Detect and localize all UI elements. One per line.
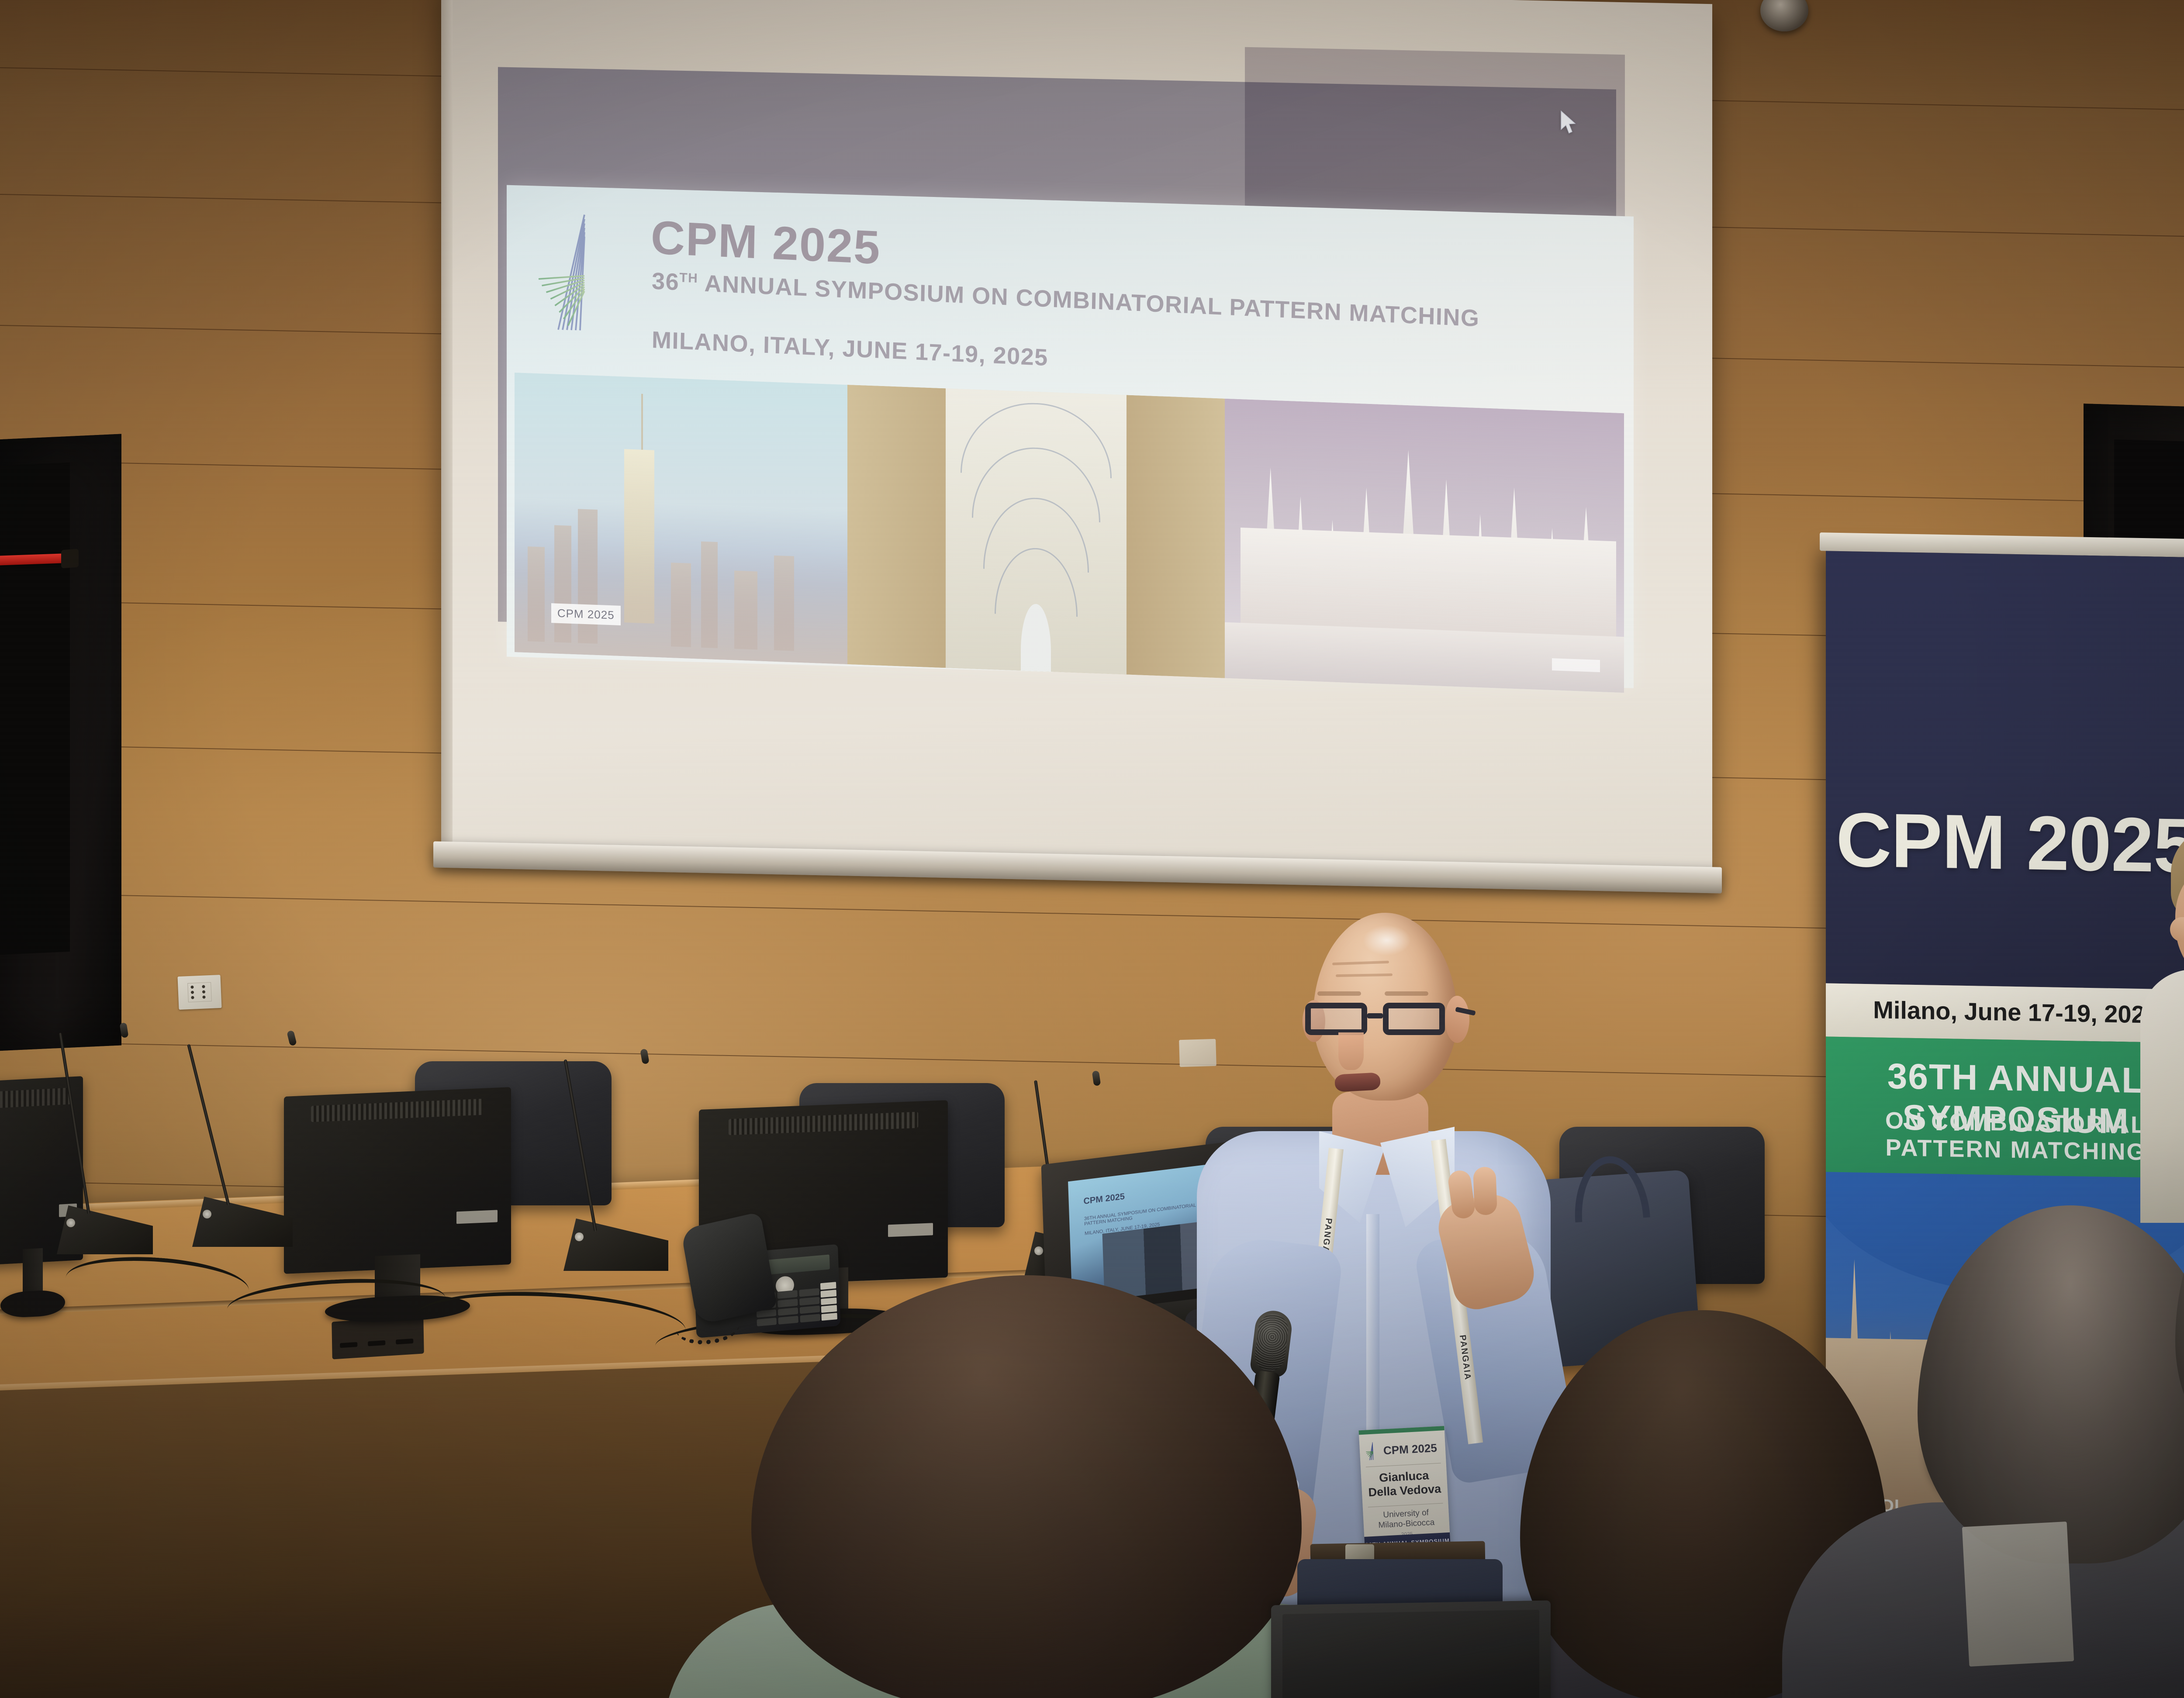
speaker-head-highlight [1363, 925, 1411, 956]
slide-photo-watermark: CPM 2025 [551, 603, 621, 625]
badge-affiliation: University ofMilano-Bicocca [1363, 1507, 1449, 1532]
attendee-sweater [2140, 970, 2184, 1223]
badge-event-name: CPM 2025 [1383, 1441, 1437, 1457]
duomo-di-milano-photo [1225, 399, 1624, 693]
badge-attendee-name: GianlucaDella Vedova [1361, 1468, 1448, 1500]
attendee-nose [2170, 917, 2184, 942]
cpm-triangle-logo-icon [532, 207, 641, 336]
milan-skyline-photo: CPM 2025 [515, 373, 847, 664]
slide-header: CPM 2025 36TH ANNUAL SYMPOSIUM ON COMBIN… [507, 185, 1634, 400]
socket-frame [187, 982, 212, 1002]
slide-photo-label [1552, 658, 1600, 672]
mouse-pointer-icon [1559, 110, 1577, 135]
standing-attendee-right [2118, 825, 2184, 1218]
cpm-triangle-logo-icon [1365, 1441, 1381, 1461]
exit-door-left[interactable] [0, 434, 121, 1051]
projection-screen: CPM 2025 36TH ANNUAL SYMPOSIUM ON COMBIN… [441, 0, 1712, 873]
push-bar-bracket [61, 549, 79, 569]
slide-location-line: MILANO, ITALY, JUNE 17-19, 2025 [652, 326, 1049, 371]
door-recess [0, 462, 70, 955]
desk-phone-icon[interactable] [693, 1212, 841, 1338]
audience-laptop[interactable] [1271, 1600, 1551, 1698]
screen-left-edge [441, 0, 453, 848]
microphone-head [1249, 1309, 1294, 1378]
speaker-name-badge: CPM 2025 GianlucaDella Vedova University… [1359, 1426, 1451, 1557]
eyeglasses-icon [1305, 1003, 1466, 1039]
wall-socket-plate-icon[interactable] [177, 975, 221, 1010]
galleria-vittorio-emanuele-photo [847, 385, 1225, 678]
slide-title: CPM 2025 [650, 210, 881, 275]
phone-handset[interactable] [681, 1211, 777, 1325]
audience-device-screen [1962, 1522, 2074, 1667]
phone-function-keys[interactable] [820, 1282, 837, 1321]
slide-subtitle: 36TH ANNUAL SYMPOSIUM ON COMBINATORIAL P… [652, 267, 1480, 332]
badge-header: CPM 2025 [1359, 1436, 1446, 1463]
speaker-mouth [1334, 1072, 1381, 1092]
microphone-grille [1253, 1313, 1289, 1373]
projected-slide: CPM 2025 36TH ANNUAL SYMPOSIUM ON COMBIN… [507, 185, 1634, 688]
audience-laptop-screen [1282, 1610, 1540, 1698]
laptop-slide-title: CPM 2025 [1083, 1192, 1125, 1207]
slide-photo-strip: CPM 2025 [515, 373, 1624, 693]
lecture-hall-scene: CPM 2025 36TH ANNUAL SYMPOSIUM ON COMBIN… [0, 0, 2184, 1698]
speaker-finger [1473, 1167, 1497, 1215]
speaker-nose [1338, 1032, 1364, 1070]
lanyard-brand-text: PANGAIA [1457, 1334, 1473, 1381]
